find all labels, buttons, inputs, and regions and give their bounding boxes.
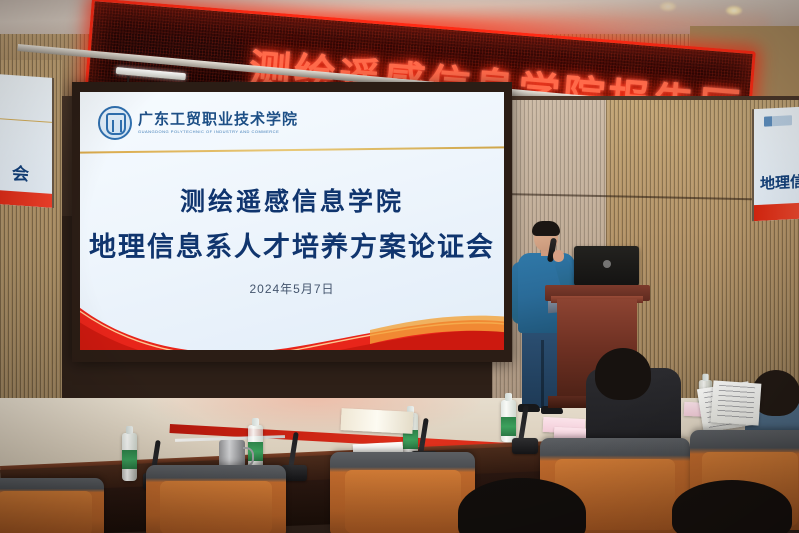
side-screen-right: 地理信 (752, 107, 799, 222)
auditorium-chair (0, 478, 104, 533)
slide-title-line-2: 地理信息系人才培养方案论证会 (80, 225, 504, 264)
speaker-hair (532, 221, 560, 236)
attendee-foreground-right-head (672, 480, 792, 533)
chair-cushion (160, 481, 272, 533)
document-text-lines (717, 385, 756, 421)
chair-cushion (345, 470, 461, 532)
side-screen-left-text: 会 (12, 159, 29, 185)
auditorium-chair (330, 452, 475, 533)
university-crest-icon (98, 106, 132, 140)
slide-red-ribbon-graphic (80, 290, 504, 350)
table-microphone-base (512, 438, 538, 454)
chair-cushion (0, 491, 92, 533)
ceiling-downlight-icon (660, 2, 676, 11)
speaker-leg-divider (541, 340, 544, 408)
side-screen-right-ribbon (754, 203, 799, 221)
slide-divider-rule (80, 146, 504, 153)
open-notebook (340, 408, 413, 434)
speaker-shoe-left (518, 404, 540, 412)
logo-english-name: GUANGDONG POLYTECHNIC OF INDUSTRY AND CO… (138, 130, 298, 134)
side-screen-right-text: 地理信 (760, 171, 799, 194)
bottle-label (501, 417, 516, 436)
attendee-front-center-head (595, 348, 651, 400)
side-screen-right-logo (764, 115, 792, 126)
bottle-label (122, 450, 137, 469)
logo-wordmark: 广东工贸职业技术学院 GUANGDONG POLYTECHNIC OF INDU… (138, 112, 298, 134)
side-screen-left: 会 (0, 74, 54, 208)
university-logo: 广东工贸职业技术学院 GUANGDONG POLYTECHNIC OF INDU… (98, 106, 298, 140)
auditorium-chair (146, 465, 286, 533)
speaker-hand (553, 250, 564, 262)
ribbon-svg (80, 290, 504, 350)
side-screen-left-rule (0, 118, 52, 123)
ceiling-downlight-icon (726, 6, 742, 15)
lecture-hall-photo: 测绘遥感信息学院报告厅 会 地理信 (0, 0, 799, 533)
presentation-slide: 广东工贸职业技术学院 GUANGDONG POLYTECHNIC OF INDU… (80, 92, 504, 350)
held-document (711, 380, 762, 425)
podium-laptop (574, 246, 639, 286)
logo-chinese-name: 广东工贸职业技术学院 (138, 112, 298, 127)
laptop-logo-icon (603, 260, 611, 268)
water-bottle (501, 400, 516, 442)
water-bottle (122, 433, 137, 481)
slide-title-line-1: 测绘遥感信息学院 (80, 182, 504, 218)
